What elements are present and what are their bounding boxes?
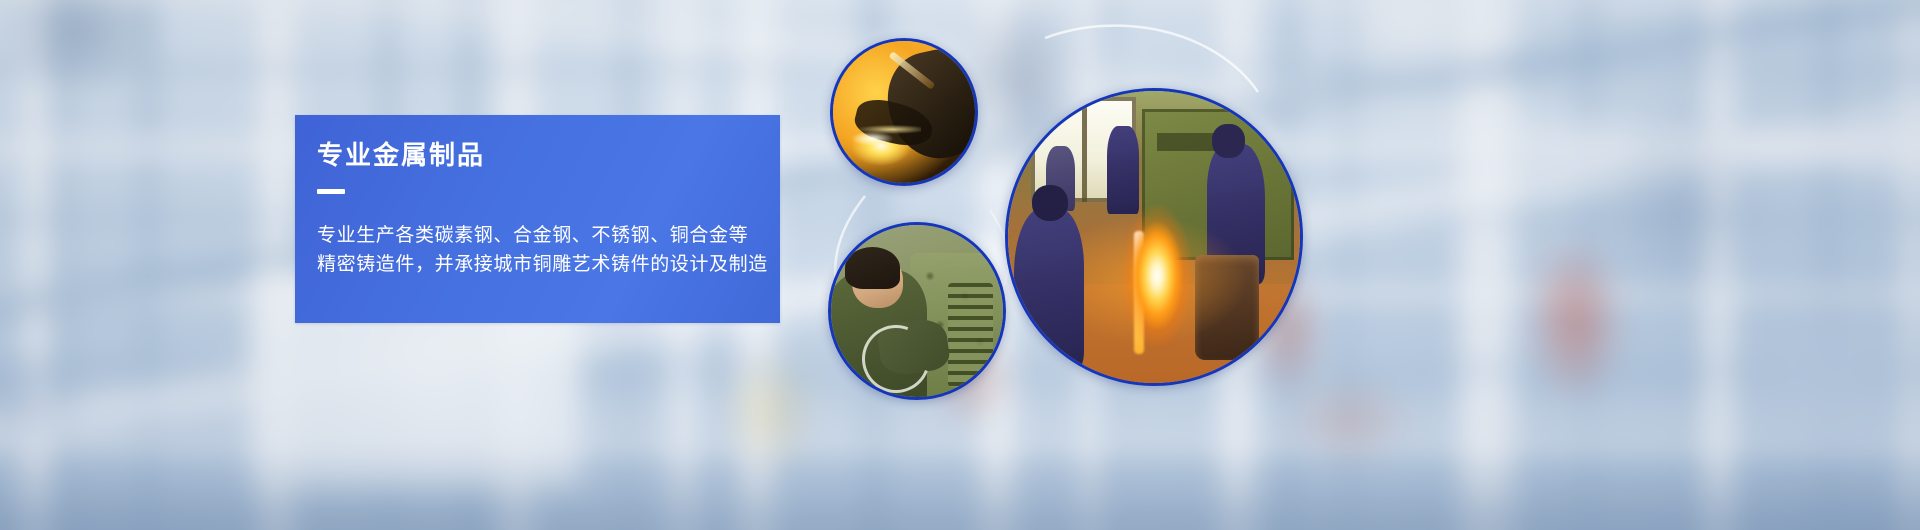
inspection-photo-art	[831, 225, 1003, 397]
foundry-pour-photo	[1005, 88, 1303, 386]
promo-text-panel: 专业金属制品 专业生产各类碳素钢、合金钢、不锈钢、铜合金等 精密铸造件，并承接城…	[295, 115, 780, 323]
panel-description-line-1: 专业生产各类碳素钢、合金钢、不锈钢、铜合金等	[317, 221, 780, 250]
title-divider	[317, 189, 345, 194]
molten-metal-glow	[1096, 179, 1219, 366]
panel-description: 专业生产各类碳素钢、合金钢、不锈钢、铜合金等 精密铸造件，并承接城市铜雕艺术铸件…	[317, 221, 780, 280]
panel-description-line-2: 精密铸造件，并承接城市铜雕艺术铸件的设计及制造	[317, 250, 780, 279]
hero-banner: 专业金属制品 专业生产各类碳素钢、合金钢、不锈钢、铜合金等 精密铸造件，并承接城…	[0, 0, 1920, 530]
promo-panel-content: 专业金属制品 专业生产各类碳素钢、合金钢、不锈钢、铜合金等 精密铸造件，并承接城…	[295, 115, 780, 279]
inspection-photo	[828, 222, 1006, 400]
parts-rack	[948, 283, 993, 386]
foundry-worker-left	[1014, 208, 1084, 372]
panel-title: 专业金属制品	[317, 141, 780, 170]
welding-sparks	[851, 111, 921, 157]
foundry-photo-art	[1008, 91, 1300, 383]
welding-photo-art	[833, 41, 975, 183]
worker-hair	[845, 247, 900, 288]
welding-photo	[830, 38, 978, 186]
